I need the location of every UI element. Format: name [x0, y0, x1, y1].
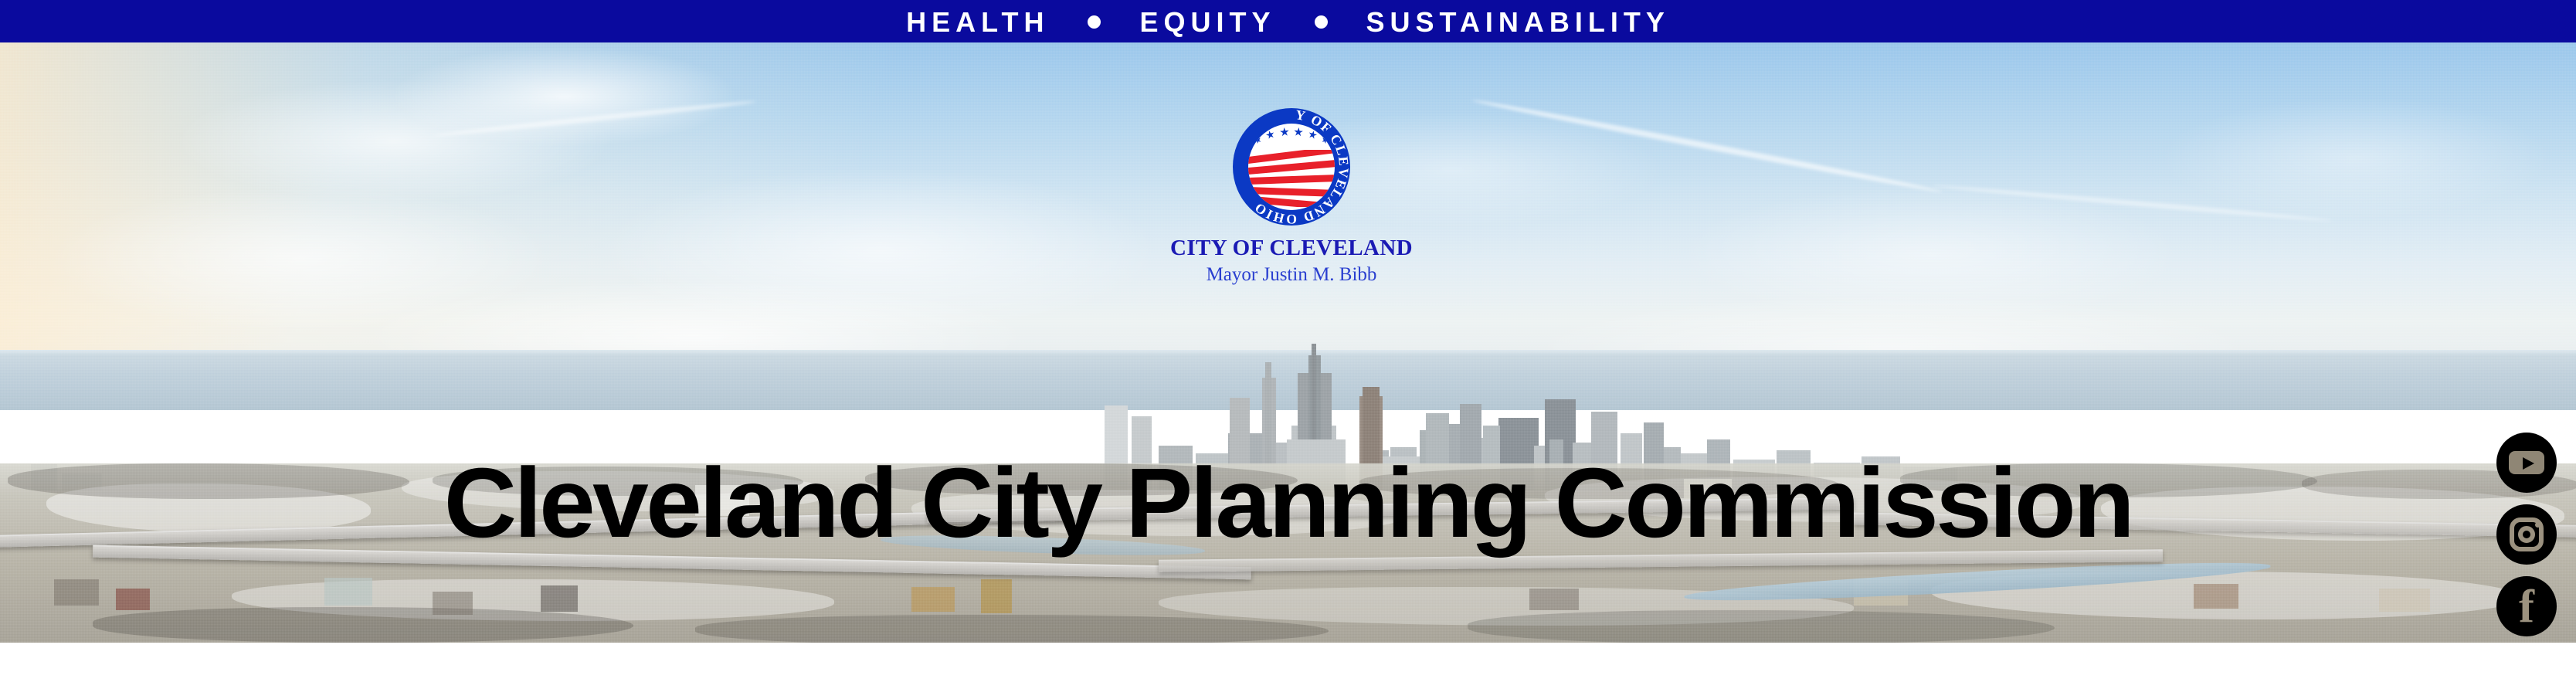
city-of-cleveland-seal-icon: CITY OF CLEVELAND OHIO — [1233, 108, 1350, 226]
social-links: f — [2496, 433, 2557, 636]
page-title: Cleveland City Planning Commission — [0, 454, 2576, 553]
bullet-dot-icon — [1088, 15, 1101, 29]
tagline-word-equity: EQUITY — [1139, 6, 1275, 39]
tagline-word-sustainability: SUSTAINABILITY — [1366, 6, 1670, 39]
bullet-dot-icon — [1315, 15, 1328, 29]
instagram-icon[interactable] — [2496, 504, 2557, 565]
tagline-banner: HEALTH EQUITY SUSTAINABILITY — [0, 0, 2576, 42]
tagline-banner-inner: HEALTH EQUITY SUSTAINABILITY — [906, 6, 1670, 39]
city-logo-lockup: CITY OF CLEVELAND OHIO — [1156, 108, 1427, 286]
tagline-word-health: HEALTH — [906, 6, 1049, 39]
bottom-white-strip — [0, 643, 2576, 682]
org-subtitle-mayor: Mayor Justin M. Bibb — [1207, 264, 1377, 286]
seal-stars — [1248, 128, 1335, 142]
seal-flag — [1248, 150, 1335, 207]
facebook-icon[interactable]: f — [2496, 576, 2557, 636]
page-root: HEALTH EQUITY SUSTAINABILITY — [0, 0, 2576, 682]
youtube-icon[interactable] — [2496, 433, 2557, 493]
facebook-glyph: f — [2496, 576, 2557, 636]
org-name: CITY OF CLEVELAND — [1170, 236, 1413, 261]
